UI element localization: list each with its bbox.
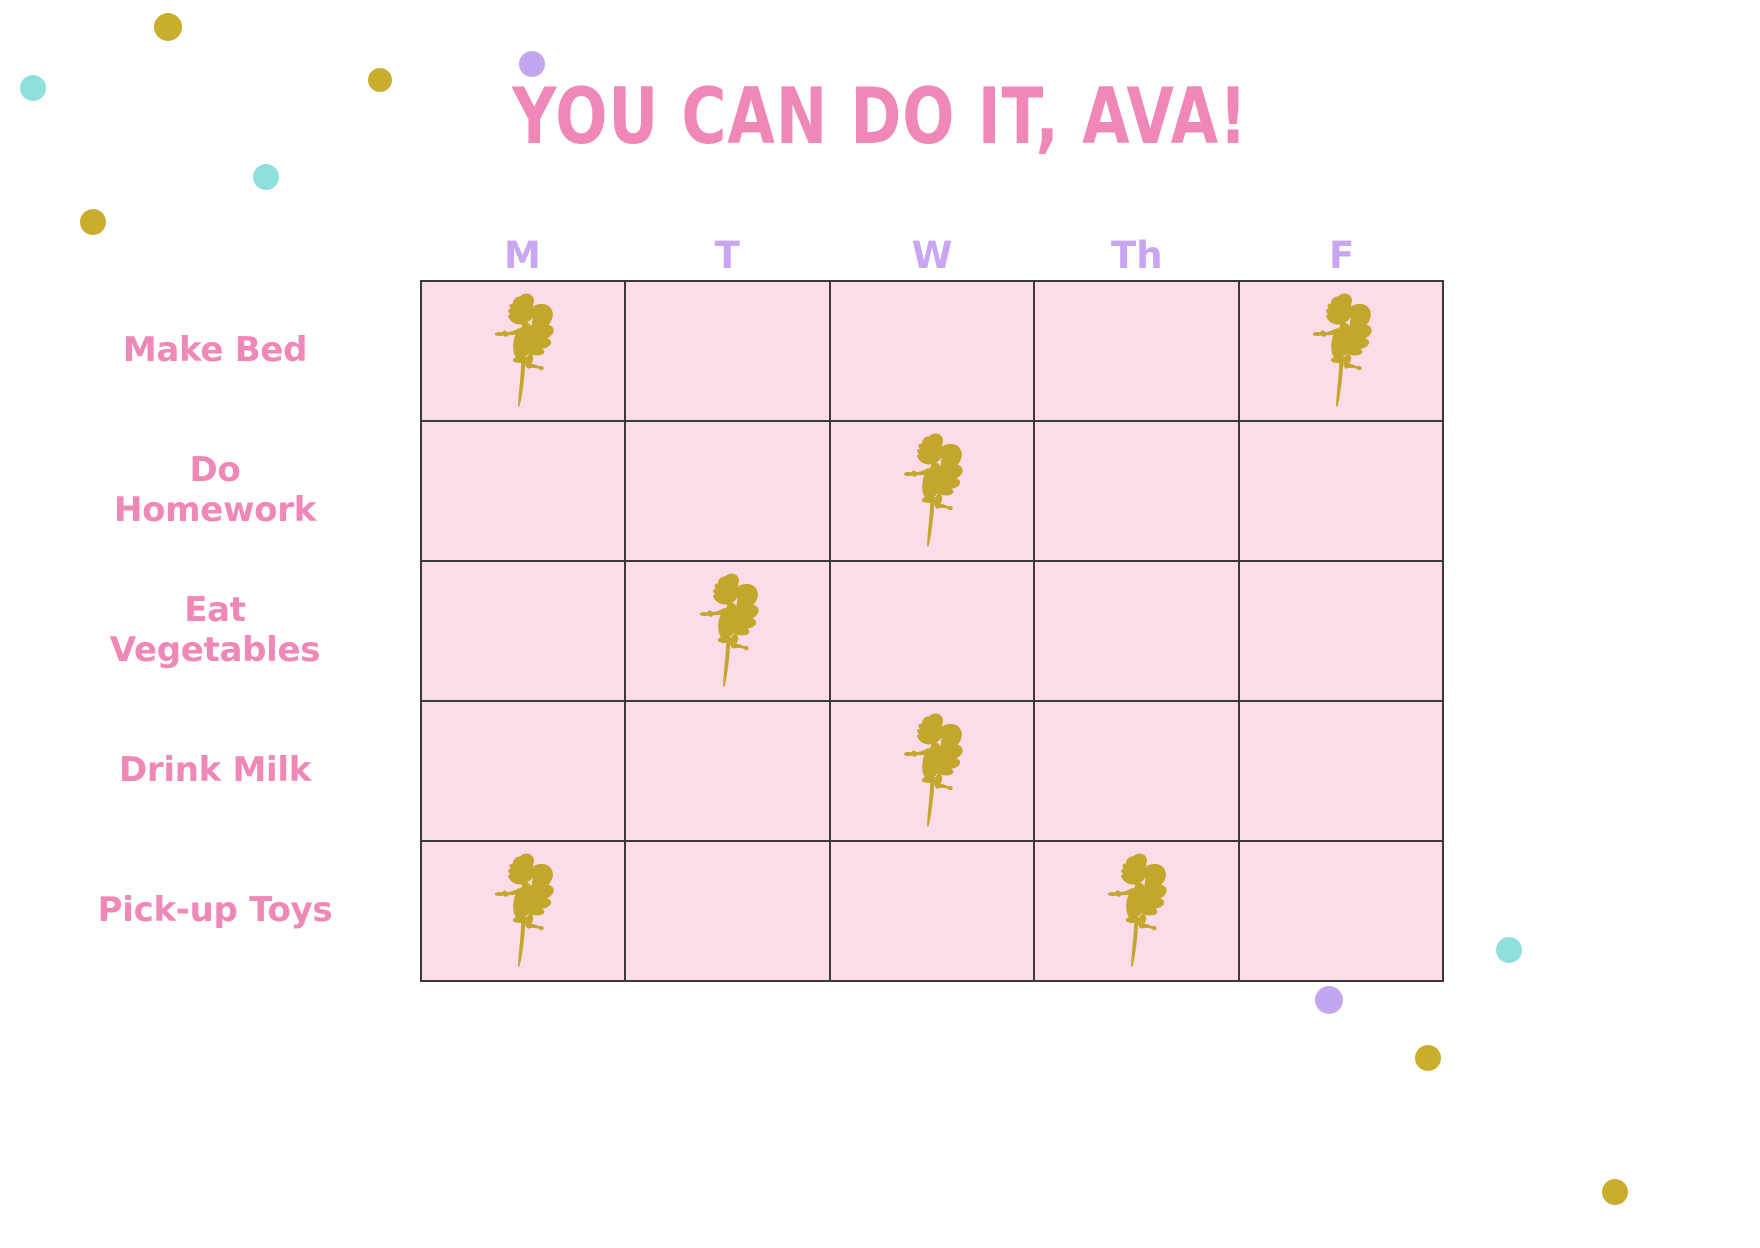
chore-cell-eat-vegetables-t[interactable]	[626, 562, 830, 702]
chore-cell-drink-milk-m[interactable]	[422, 702, 626, 842]
chore-label-eat-vegetables: EatVegetables	[40, 560, 390, 700]
fairy-sticker-icon	[490, 852, 556, 970]
day-header-m: M	[420, 237, 625, 280]
chore-label-line: Drink Milk	[40, 750, 390, 790]
page-title: YOU CAN DO IT, AVA!	[62, 78, 1699, 156]
chore-cell-make-bed-m[interactable]	[422, 282, 626, 422]
chore-cell-drink-milk-t[interactable]	[626, 702, 830, 842]
fairy-sticker-icon	[490, 292, 556, 410]
chore-cell-make-bed-w[interactable]	[831, 282, 1035, 422]
purple-dot-2	[1315, 986, 1343, 1014]
gold-dot-4	[1415, 1045, 1441, 1071]
gold-dot-5	[1602, 1179, 1628, 1205]
chore-cell-do-homework-th[interactable]	[1035, 422, 1239, 562]
chore-cell-pick-up-toys-f[interactable]	[1240, 842, 1444, 982]
day-header-t: T	[625, 237, 830, 280]
chore-chart-page: YOU CAN DO IT, AVA! Make BedDoHomeworkEa…	[0, 0, 1760, 1248]
chore-label-line: Vegetables	[40, 630, 390, 670]
chore-cell-pick-up-toys-m[interactable]	[422, 842, 626, 982]
chore-cell-pick-up-toys-th[interactable]	[1035, 842, 1239, 982]
chore-label-column: Make BedDoHomeworkEatVegetablesDrink Mil…	[40, 280, 390, 980]
chore-cell-do-homework-m[interactable]	[422, 422, 626, 562]
chore-cell-make-bed-t[interactable]	[626, 282, 830, 422]
chore-cell-eat-vegetables-f[interactable]	[1240, 562, 1444, 702]
chore-cell-eat-vegetables-th[interactable]	[1035, 562, 1239, 702]
fairy-sticker-icon	[899, 432, 965, 550]
chore-cell-drink-milk-f[interactable]	[1240, 702, 1444, 842]
chore-label-line: Pick-up Toys	[40, 890, 390, 930]
chore-label-line: Make Bed	[40, 330, 390, 370]
chore-label-drink-milk: Drink Milk	[40, 700, 390, 840]
teal-dot-3	[1496, 937, 1522, 963]
chore-grid	[420, 280, 1444, 982]
chore-label-line: Homework	[40, 490, 390, 530]
gold-dot-3	[80, 209, 106, 235]
table-row	[422, 282, 1444, 422]
table-row	[422, 562, 1444, 702]
table-row	[422, 702, 1444, 842]
day-header-w: W	[830, 237, 1035, 280]
chore-label-make-bed: Make Bed	[40, 280, 390, 420]
fairy-sticker-icon	[695, 572, 761, 690]
fairy-sticker-icon	[1308, 292, 1374, 410]
day-header-row: MTWThF	[420, 212, 1444, 280]
chore-cell-do-homework-t[interactable]	[626, 422, 830, 562]
chore-label-line: Do	[40, 450, 390, 490]
chore-label-pick-up-toys: Pick-up Toys	[40, 840, 390, 980]
chore-cell-drink-milk-w[interactable]	[831, 702, 1035, 842]
chore-chart: MTWThF	[420, 212, 1444, 982]
chore-cell-do-homework-f[interactable]	[1240, 422, 1444, 562]
gold-dot-1	[154, 13, 182, 41]
day-header-f: F	[1239, 237, 1444, 280]
chore-cell-make-bed-th[interactable]	[1035, 282, 1239, 422]
chore-cell-pick-up-toys-t[interactable]	[626, 842, 830, 982]
teal-dot-2	[253, 164, 279, 190]
chore-cell-pick-up-toys-w[interactable]	[831, 842, 1035, 982]
day-header-th: Th	[1034, 237, 1239, 280]
fairy-sticker-icon	[1103, 852, 1169, 970]
table-row	[422, 842, 1444, 982]
chore-cell-make-bed-f[interactable]	[1240, 282, 1444, 422]
table-row	[422, 422, 1444, 562]
chore-cell-do-homework-w[interactable]	[831, 422, 1035, 562]
chore-label-line: Eat	[40, 590, 390, 630]
chore-cell-eat-vegetables-m[interactable]	[422, 562, 626, 702]
fairy-sticker-icon	[899, 712, 965, 830]
teal-dot-1	[20, 75, 46, 101]
chore-cell-drink-milk-th[interactable]	[1035, 702, 1239, 842]
chore-cell-eat-vegetables-w[interactable]	[831, 562, 1035, 702]
chore-label-do-homework: DoHomework	[40, 420, 390, 560]
